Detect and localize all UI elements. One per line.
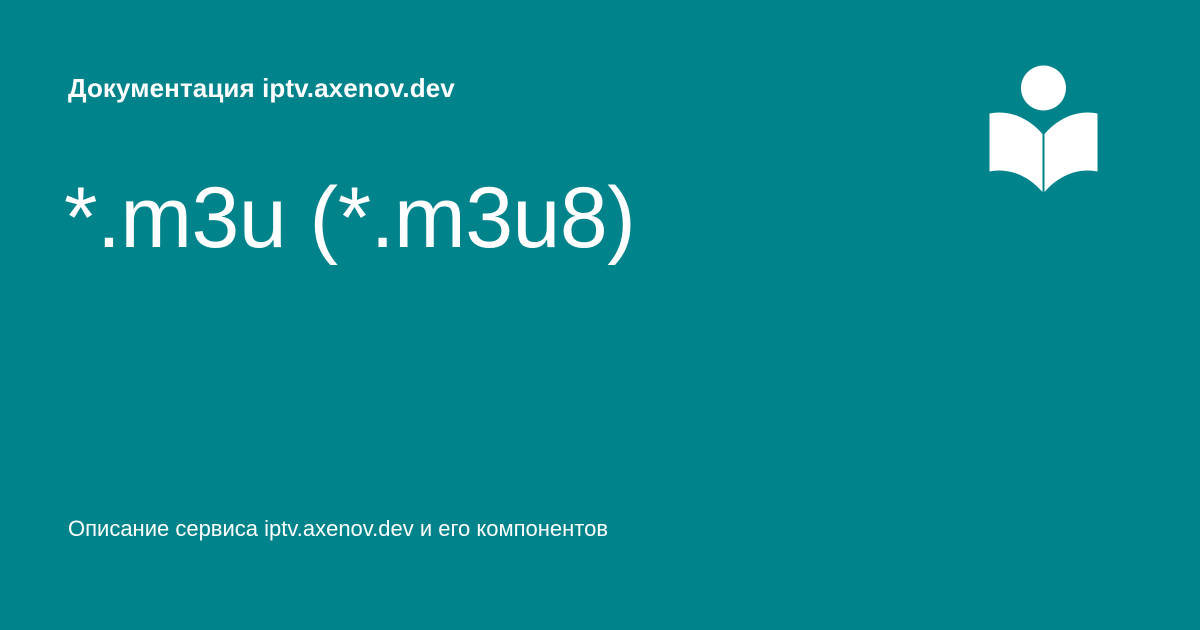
open-book-icon: [990, 112, 1043, 192]
page-description: Описание сервиса iptv.axenov.dev и его к…: [68, 514, 928, 544]
site-title: Документация iptv.axenov.dev: [68, 72, 455, 104]
open-book-icon: [1045, 112, 1098, 192]
social-preview-card: Документация iptv.axenov.dev *.m3u (*.m3…: [0, 0, 1200, 630]
circle-head-icon: [1021, 66, 1066, 111]
book-reader-logo: [988, 62, 1100, 198]
page-title: *.m3u (*.m3u8): [64, 168, 1064, 268]
